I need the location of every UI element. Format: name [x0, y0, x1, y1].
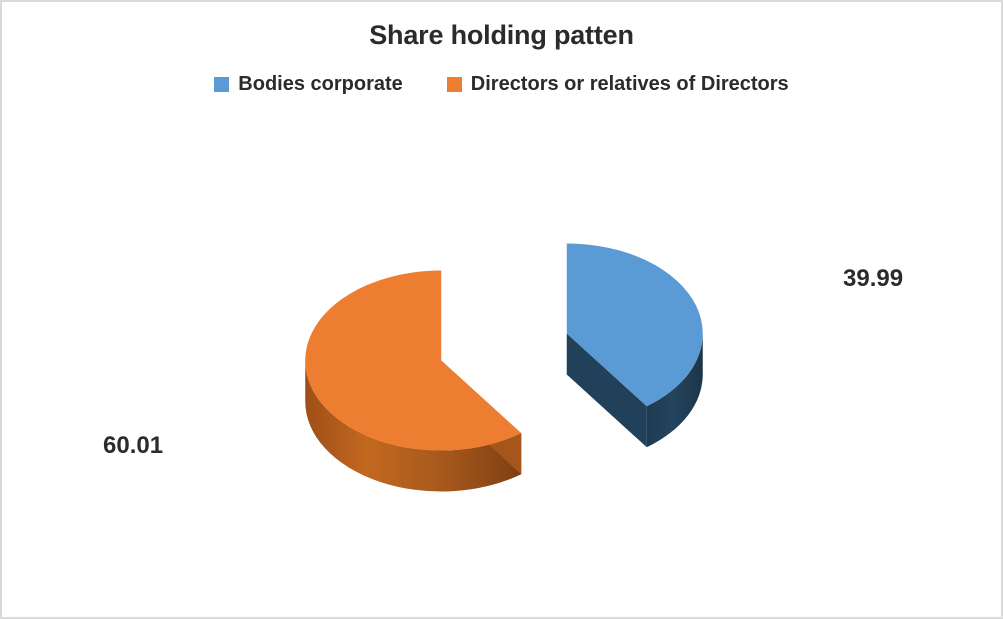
pie-slice-directors[interactable] — [305, 271, 521, 492]
pie-slice-bodies-corporate[interactable] — [567, 243, 703, 447]
pie-chart-graphic — [2, 2, 1003, 619]
data-label-directors: 60.01 — [103, 432, 163, 460]
data-label-bodies-corporate: 39.99 — [843, 265, 903, 293]
chart-container: Share holding patten Bodies corporate Di… — [0, 0, 1003, 619]
